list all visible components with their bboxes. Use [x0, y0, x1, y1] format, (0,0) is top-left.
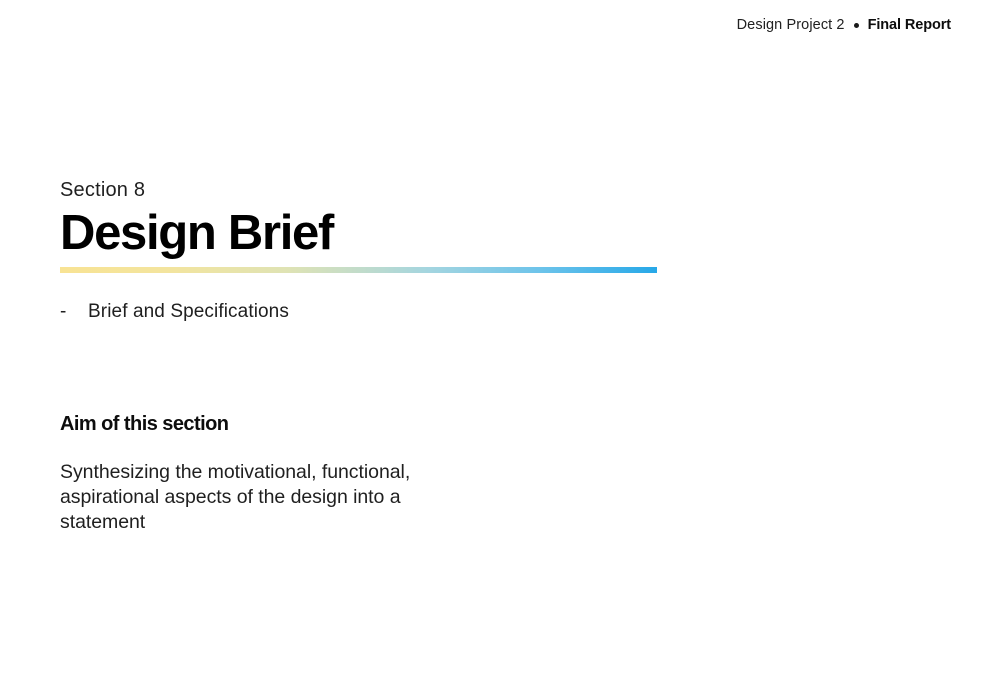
gradient-divider: [60, 267, 657, 273]
dash-marker-icon: -: [60, 298, 88, 326]
aim-heading: Aim of this section: [60, 412, 480, 436]
section-title-block: Section 8 Design Brief: [60, 179, 760, 260]
page-title: Design Brief: [60, 207, 760, 260]
running-header: Design Project 2 Final Report: [737, 18, 951, 33]
topic-list: - Brief and Specifications: [60, 298, 700, 326]
header-project-label: Design Project 2: [737, 18, 845, 33]
bullet-dot-icon: [854, 23, 859, 28]
list-item: - Brief and Specifications: [60, 298, 700, 326]
section-eyebrow: Section 8: [60, 179, 760, 201]
aim-body-text: Synthesizing the motivational, functiona…: [60, 460, 432, 535]
list-item-label: Brief and Specifications: [88, 298, 700, 326]
aim-block: Aim of this section Synthesizing the mot…: [60, 412, 480, 535]
slide-canvas: Design Project 2 Final Report Section 8 …: [0, 0, 1000, 692]
header-document-label: Final Report: [868, 18, 951, 33]
